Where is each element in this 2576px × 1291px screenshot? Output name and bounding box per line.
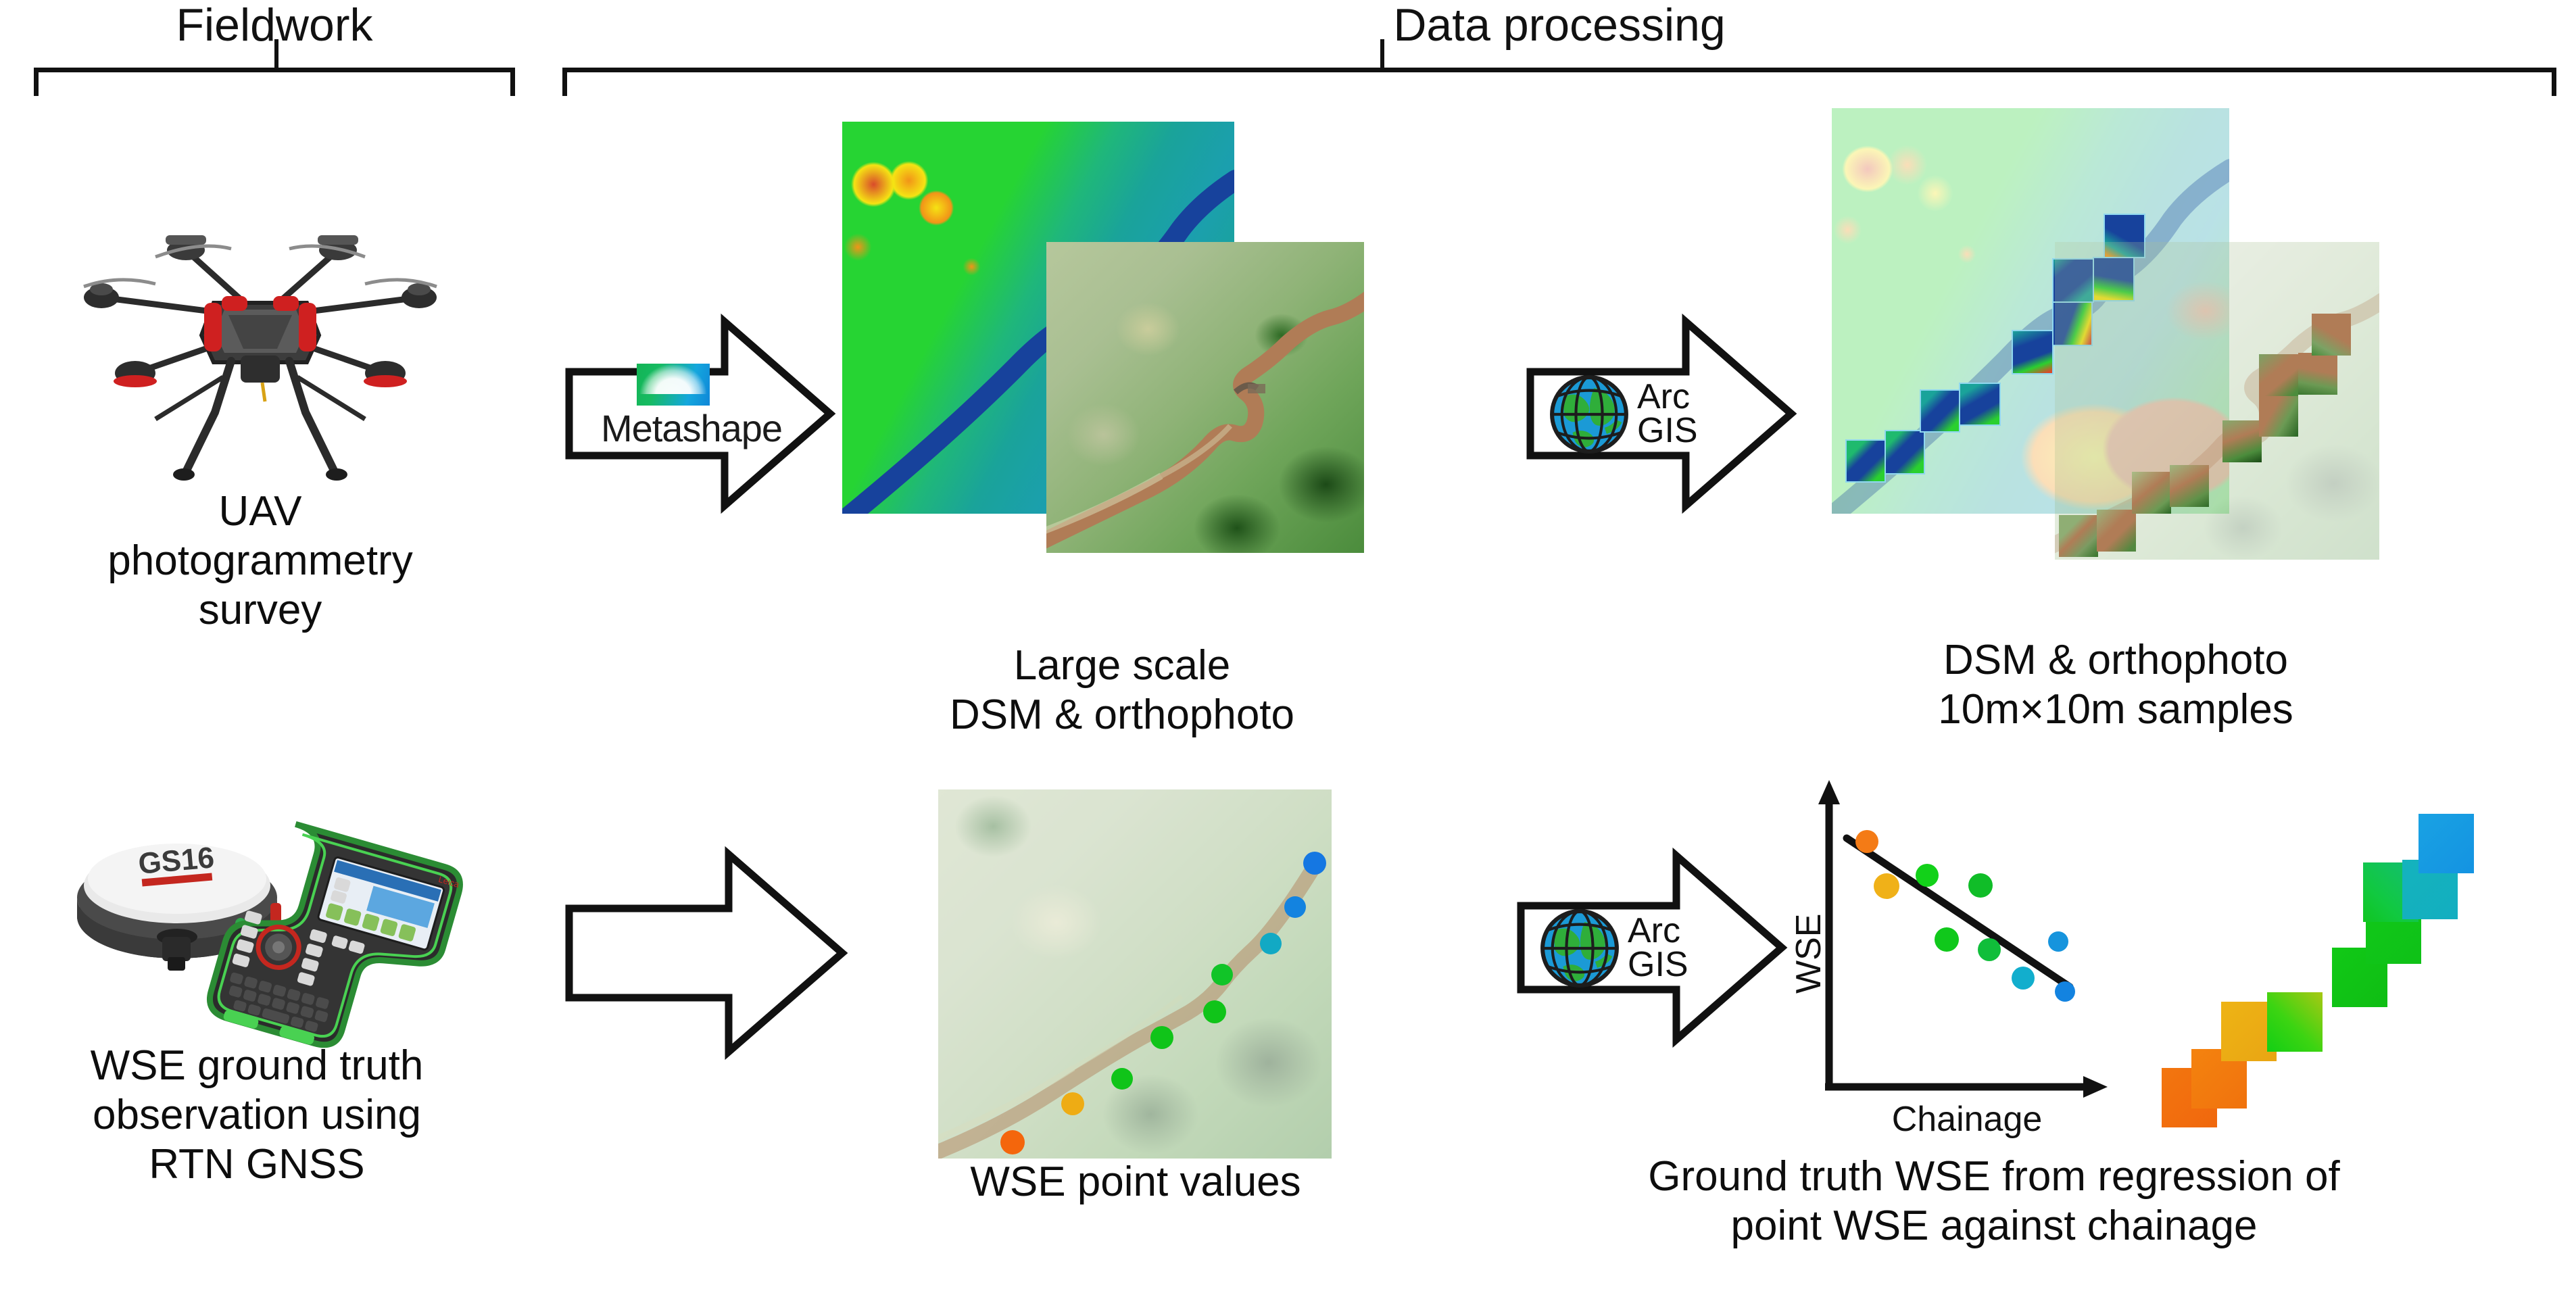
wse-point-dot <box>1303 852 1326 875</box>
wse-point-dot <box>1150 1026 1173 1049</box>
wse-point-values-raster <box>938 789 1332 1159</box>
ground-truth-sample-staircase <box>2156 798 2508 1142</box>
orthophoto-sample-tile <box>2312 314 2351 356</box>
caption-wse-point-values: WSE point values <box>940 1157 1332 1207</box>
dsm-sample-tile <box>1960 384 1999 424</box>
caption-large-scale-output: Large scale DSM & orthophoto <box>879 641 1365 739</box>
arcgis-logo-label: Arc GIS <box>1628 915 1688 982</box>
orthophoto-sample-tile <box>2298 353 2337 395</box>
scatter-point <box>2048 931 2068 952</box>
globe-icon <box>1548 373 1630 456</box>
caption-ground-truth-regression: Ground truth WSE from regression of poin… <box>1595 1152 2393 1250</box>
wse-point-dot <box>1260 933 1282 954</box>
orthophoto-sample-tile <box>2222 420 2262 462</box>
scatter-point <box>1935 927 1959 952</box>
caption-wse-ground-truth: WSE ground truth observation using RTN G… <box>7 1041 507 1189</box>
staircase-tile <box>2267 992 2323 1052</box>
orthophoto-sample-tile <box>2097 510 2136 552</box>
dsm-sample-tile <box>1886 431 1924 473</box>
arcgis-logo-bottom: Arc GIS <box>1538 907 1688 990</box>
orthophoto-sample-tile <box>2170 465 2209 507</box>
gnss-receiver-photo: GS16 Leica <box>47 784 480 1054</box>
orthophoto-sample-tile <box>2259 354 2298 396</box>
scatter-point <box>2012 967 2035 990</box>
dsm-sample-tile <box>1921 391 1959 431</box>
scatter-point <box>1978 938 2001 961</box>
wse-point-dot <box>1203 1000 1226 1023</box>
metashape-logo-label: Metashape <box>587 410 796 447</box>
axis-label-wse: WSE <box>1789 914 1829 994</box>
arcgis-logo-label: Arc GIS <box>1637 381 1698 448</box>
globe-icon <box>1538 907 1621 990</box>
dsm-sample-tile <box>1847 441 1885 481</box>
metashape-mark-icon <box>637 364 710 406</box>
caption-uav-survey: UAV photogrammetry survey <box>14 487 507 635</box>
wse-point-dot <box>1000 1130 1025 1154</box>
caption-sampled-output: DSM & orthophoto 10m×10m samples <box>1879 635 2352 734</box>
staircase-tile <box>2419 814 2474 873</box>
orthophoto-sample-tile <box>2132 472 2171 514</box>
sampled-orthophoto <box>2055 242 2379 560</box>
metashape-logo <box>637 364 710 406</box>
phase-label-data-processing: Data processing <box>562 0 2556 51</box>
axis-label-chainage: Chainage <box>1859 1099 2075 1140</box>
scatter-point <box>1874 873 1899 899</box>
wse-point-dot <box>1284 896 1306 918</box>
wse-chainage-scatter-plot: WSE Chainage <box>1751 771 2183 1122</box>
orthophoto-sample-tile <box>2259 395 2298 437</box>
scatter-point <box>1855 830 1878 853</box>
plain-arrow <box>565 845 849 1061</box>
wse-point-dot <box>1111 1068 1133 1090</box>
wse-point-dot <box>1211 964 1233 985</box>
large-scale-orthophoto <box>1046 242 1364 553</box>
scatter-point <box>2055 981 2075 1002</box>
scatter-point <box>1968 873 1993 898</box>
dsm-sample-tile <box>2013 331 2052 373</box>
uav-hexacopter-photo <box>54 216 466 500</box>
orthophoto-sample-tile <box>2059 515 2098 557</box>
scatter-point <box>1916 864 1939 887</box>
wse-point-dot <box>1061 1092 1084 1115</box>
arcgis-logo-top: Arc GIS <box>1548 373 1698 456</box>
